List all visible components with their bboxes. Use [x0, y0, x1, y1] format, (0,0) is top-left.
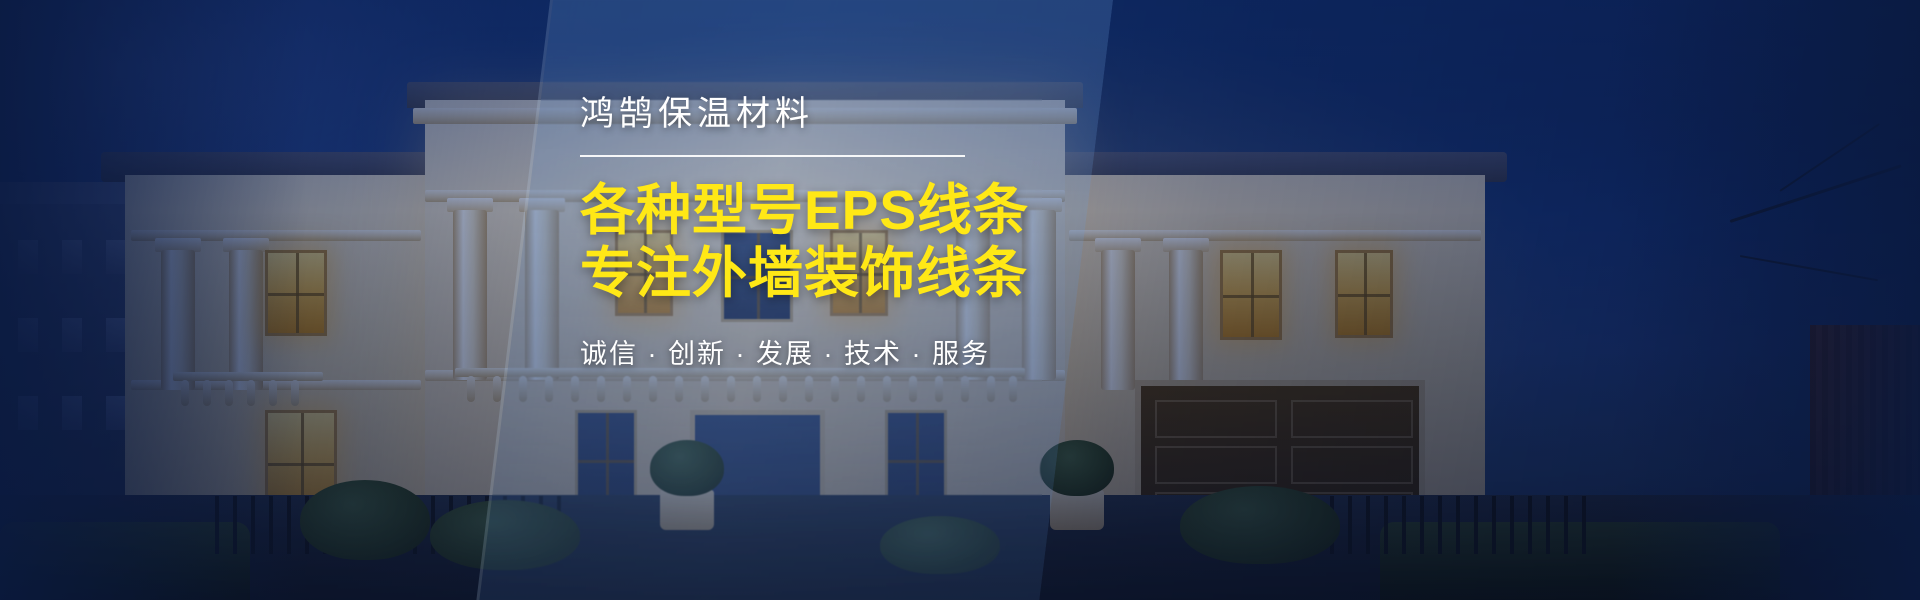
- hero-banner: 鸿鹄保温材料 各种型号EPS线条 专注外墙装饰线条 诚信 · 创新 · 发展 ·…: [0, 0, 1920, 600]
- title-divider: [580, 155, 965, 157]
- headline-line-1: 各种型号EPS线条: [580, 179, 1050, 241]
- brand-subtitle: 鸿鹄保温材料: [580, 96, 1050, 133]
- banner-text-block: 鸿鹄保温材料 各种型号EPS线条 专注外墙装饰线条 诚信 · 创新 · 发展 ·…: [580, 96, 1050, 371]
- headline-group: 各种型号EPS线条 专注外墙装饰线条: [580, 179, 1050, 303]
- headline-line-2: 专注外墙装饰线条: [580, 242, 1050, 304]
- banner-tagline: 诚信 · 创新 · 发展 · 技术 · 服务: [580, 332, 1050, 371]
